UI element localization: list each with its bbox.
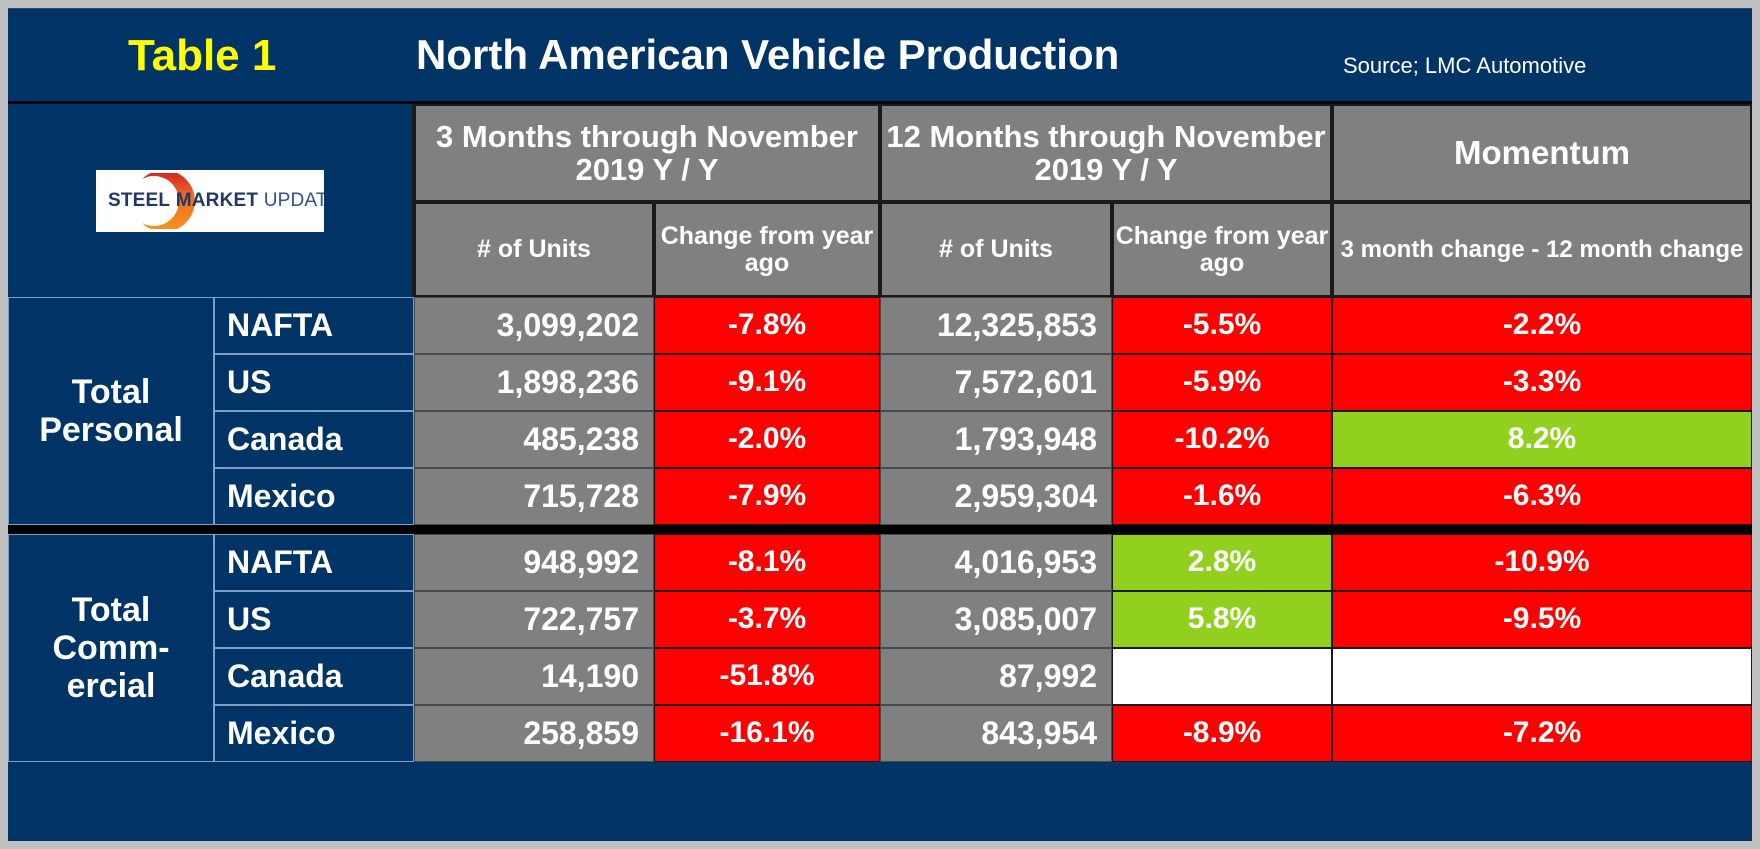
header-change-12mo: Change from year ago — [1112, 202, 1332, 297]
units-12mo-total-commercial-canada: 87,992 — [880, 648, 1112, 705]
page-title: North American Vehicle Production — [416, 31, 1119, 79]
units-3mo-total-commercial-mexico: 258,859 — [414, 705, 654, 762]
units-3mo-total-personal-canada: 485,238 — [414, 411, 654, 468]
region-label-total-commercial-canada: Canada — [214, 648, 414, 705]
change-3mo-total-commercial-canada: -51.8% — [654, 648, 880, 705]
change-12mo-total-commercial-us: 5.8% — [1112, 591, 1332, 648]
units-12mo-total-commercial-mexico: 843,954 — [880, 705, 1112, 762]
logo-wordmark: STEEL MARKET UPDATE — [108, 190, 324, 212]
momentum-total-personal-canada: 8.2% — [1332, 411, 1752, 468]
source-label: Source; LMC Automotive — [1343, 53, 1586, 79]
change-3mo-total-personal-canada: -2.0% — [654, 411, 880, 468]
change-3mo-total-commercial-mexico: -16.1% — [654, 705, 880, 762]
change-12mo-total-personal-nafta: -5.5% — [1112, 297, 1332, 354]
logo-word-market: MARKET — [176, 190, 258, 211]
logo-word-update: UPDATE — [264, 190, 324, 211]
units-12mo-total-personal-mexico: 2,959,304 — [880, 468, 1112, 525]
units-12mo-total-commercial-us: 3,085,007 — [880, 591, 1112, 648]
slide-panel: Table 1 North American Vehicle Productio… — [8, 8, 1752, 841]
change-12mo-total-commercial-mexico: -8.9% — [1112, 705, 1332, 762]
title-band: Table 1 North American Vehicle Productio… — [8, 9, 1752, 104]
units-3mo-total-commercial-us: 722,757 — [414, 591, 654, 648]
segment-label-total-commercial: TotalComm-ercial — [8, 534, 214, 762]
momentum-total-personal-nafta: -2.2% — [1332, 297, 1752, 354]
units-12mo-total-personal-us: 7,572,601 — [880, 354, 1112, 411]
segment-divider — [8, 525, 1752, 534]
logo-word-steel: STEEL — [108, 190, 170, 211]
momentum-total-commercial-canada — [1332, 648, 1752, 705]
change-12mo-total-personal-us: -5.9% — [1112, 354, 1332, 411]
units-12mo-total-personal-canada: 1,793,948 — [880, 411, 1112, 468]
momentum-total-commercial-nafta: -10.9% — [1332, 534, 1752, 591]
steel-market-update-logo: STEEL MARKET UPDATE — [96, 170, 324, 232]
change-12mo-total-commercial-nafta: 2.8% — [1112, 534, 1332, 591]
logo-cell: STEEL MARKET UPDATE — [8, 104, 414, 297]
region-label-total-commercial-us: US — [214, 591, 414, 648]
header-group-momentum: Momentum — [1332, 104, 1752, 202]
change-3mo-total-personal-nafta: -7.8% — [654, 297, 880, 354]
units-12mo-total-personal-nafta: 12,325,853 — [880, 297, 1112, 354]
momentum-total-personal-mexico: -6.3% — [1332, 468, 1752, 525]
units-3mo-total-personal-nafta: 3,099,202 — [414, 297, 654, 354]
region-label-total-personal-mexico: Mexico — [214, 468, 414, 525]
change-3mo-total-personal-us: -9.1% — [654, 354, 880, 411]
region-label-total-commercial-nafta: NAFTA — [214, 534, 414, 591]
table-number-label: Table 1 — [128, 31, 276, 81]
momentum-total-commercial-mexico: -7.2% — [1332, 705, 1752, 762]
momentum-total-personal-us: -3.3% — [1332, 354, 1752, 411]
units-3mo-total-commercial-canada: 14,190 — [414, 648, 654, 705]
header-units-3mo: # of Units — [414, 202, 654, 297]
header-units-12mo: # of Units — [880, 202, 1112, 297]
region-label-total-commercial-mexico: Mexico — [214, 705, 414, 762]
header-momentum-sub: 3 month change - 12 month change — [1332, 202, 1752, 297]
change-12mo-total-personal-mexico: -1.6% — [1112, 468, 1332, 525]
change-12mo-total-personal-canada: -10.2% — [1112, 411, 1332, 468]
region-label-total-personal-us: US — [214, 354, 414, 411]
units-12mo-total-commercial-nafta: 4,016,953 — [880, 534, 1112, 591]
momentum-total-commercial-us: -9.5% — [1332, 591, 1752, 648]
change-3mo-total-commercial-nafta: -8.1% — [654, 534, 880, 591]
segment-label-total-personal: TotalPersonal — [8, 297, 214, 525]
header-change-3mo: Change from year ago — [654, 202, 880, 297]
units-3mo-total-personal-us: 1,898,236 — [414, 354, 654, 411]
units-3mo-total-personal-mexico: 715,728 — [414, 468, 654, 525]
region-label-total-personal-canada: Canada — [214, 411, 414, 468]
header-group-12-months: 12 Months through November 2019 Y / Y — [880, 104, 1332, 202]
units-3mo-total-commercial-nafta: 948,992 — [414, 534, 654, 591]
header-group-3-months: 3 Months through November 2019 Y / Y — [414, 104, 880, 202]
change-12mo-total-commercial-canada — [1112, 648, 1332, 705]
region-label-total-personal-nafta: NAFTA — [214, 297, 414, 354]
change-3mo-total-personal-mexico: -7.9% — [654, 468, 880, 525]
change-3mo-total-commercial-us: -3.7% — [654, 591, 880, 648]
